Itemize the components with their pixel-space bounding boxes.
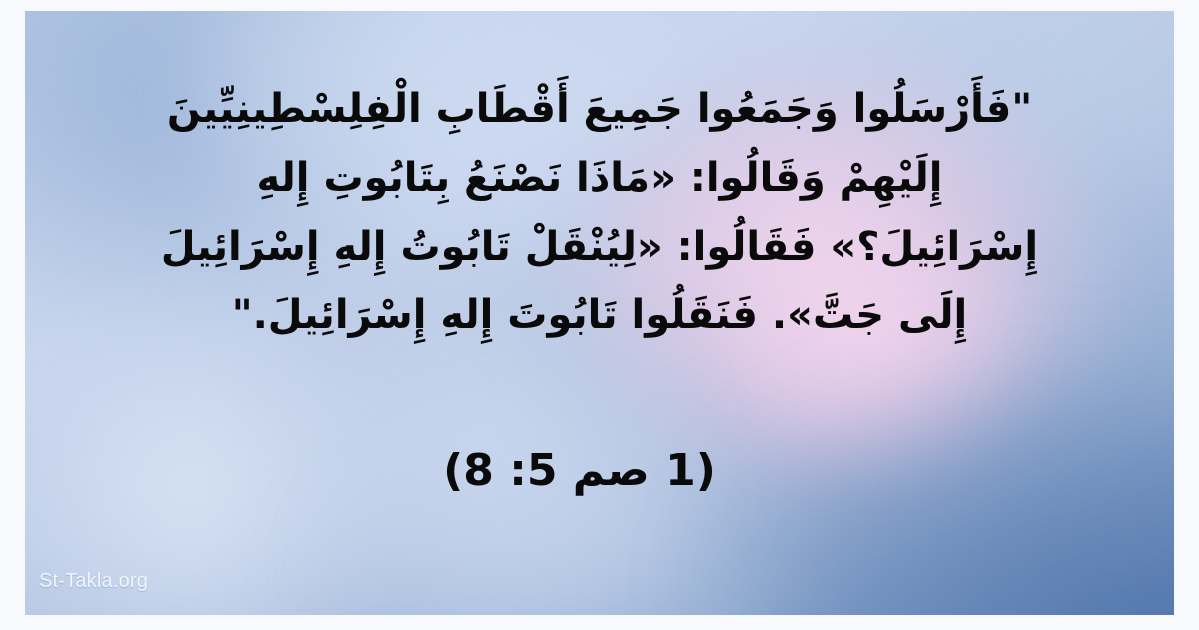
verse-image-canvas: "فَأَرْسَلُوا وَجَمَعُوا جَمِيعَ أَقْطَا…	[25, 11, 1174, 615]
verse-image-card: "فَأَرْسَلُوا وَجَمَعُوا جَمِيعَ أَقْطَا…	[0, 0, 1199, 630]
verse-line-2: إِلَيْهِمْ وَقَالُوا: «مَاذَا نَصْنَعُ ب…	[67, 144, 1132, 213]
verse-line-4: إِلَى جَتَّ». فَنَقَلُوا تَابُوتَ إِلهِ …	[67, 281, 1132, 350]
verse-text-block: "فَأَرْسَلُوا وَجَمَعُوا جَمِيعَ أَقْطَا…	[25, 75, 1174, 350]
verse-reference: (1 صم 5: 8)	[25, 445, 1174, 496]
verse-line-1: "فَأَرْسَلُوا وَجَمَعُوا جَمِيعَ أَقْطَا…	[67, 75, 1132, 144]
site-watermark: St-Takla.org	[39, 570, 148, 593]
verse-line-3: إِسْرَائِيلَ؟» فَقَالُوا: «لِيُنْقَلْ تَ…	[67, 213, 1132, 282]
